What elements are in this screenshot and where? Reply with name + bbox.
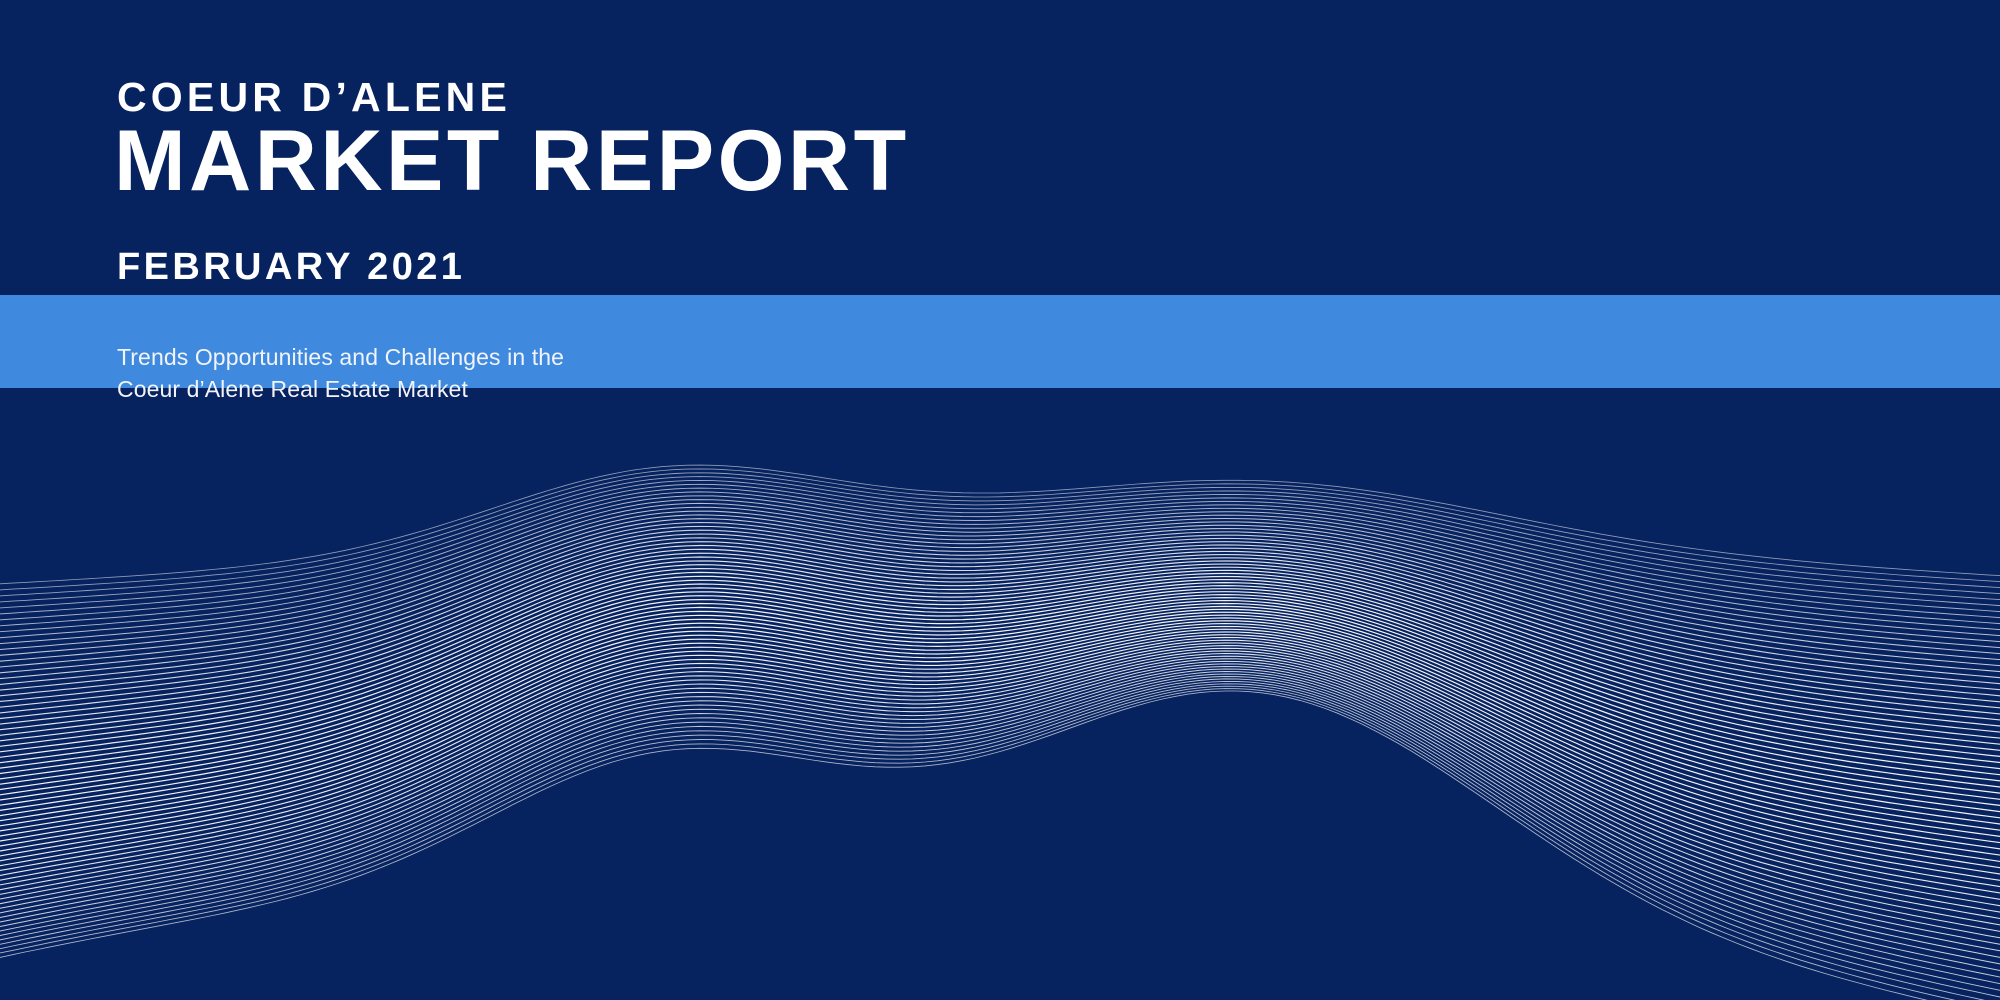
subtitle-line-2: Coeur d’Alene Real Estate Market	[117, 373, 817, 405]
page-title: MARKET REPORT	[114, 118, 910, 204]
lower-navy-background	[0, 388, 2000, 1000]
page-eyebrow: COEUR D’ALENE	[117, 77, 511, 118]
page-subtitle: Trends Opportunities and Challenges in t…	[117, 341, 817, 405]
report-cover-page: COEUR D’ALENE MARKET REPORT FEBRUARY 202…	[0, 0, 2000, 1000]
subtitle-line-1: Trends Opportunities and Challenges in t…	[117, 341, 817, 373]
period-label: FEBRUARY 2021	[117, 248, 465, 286]
